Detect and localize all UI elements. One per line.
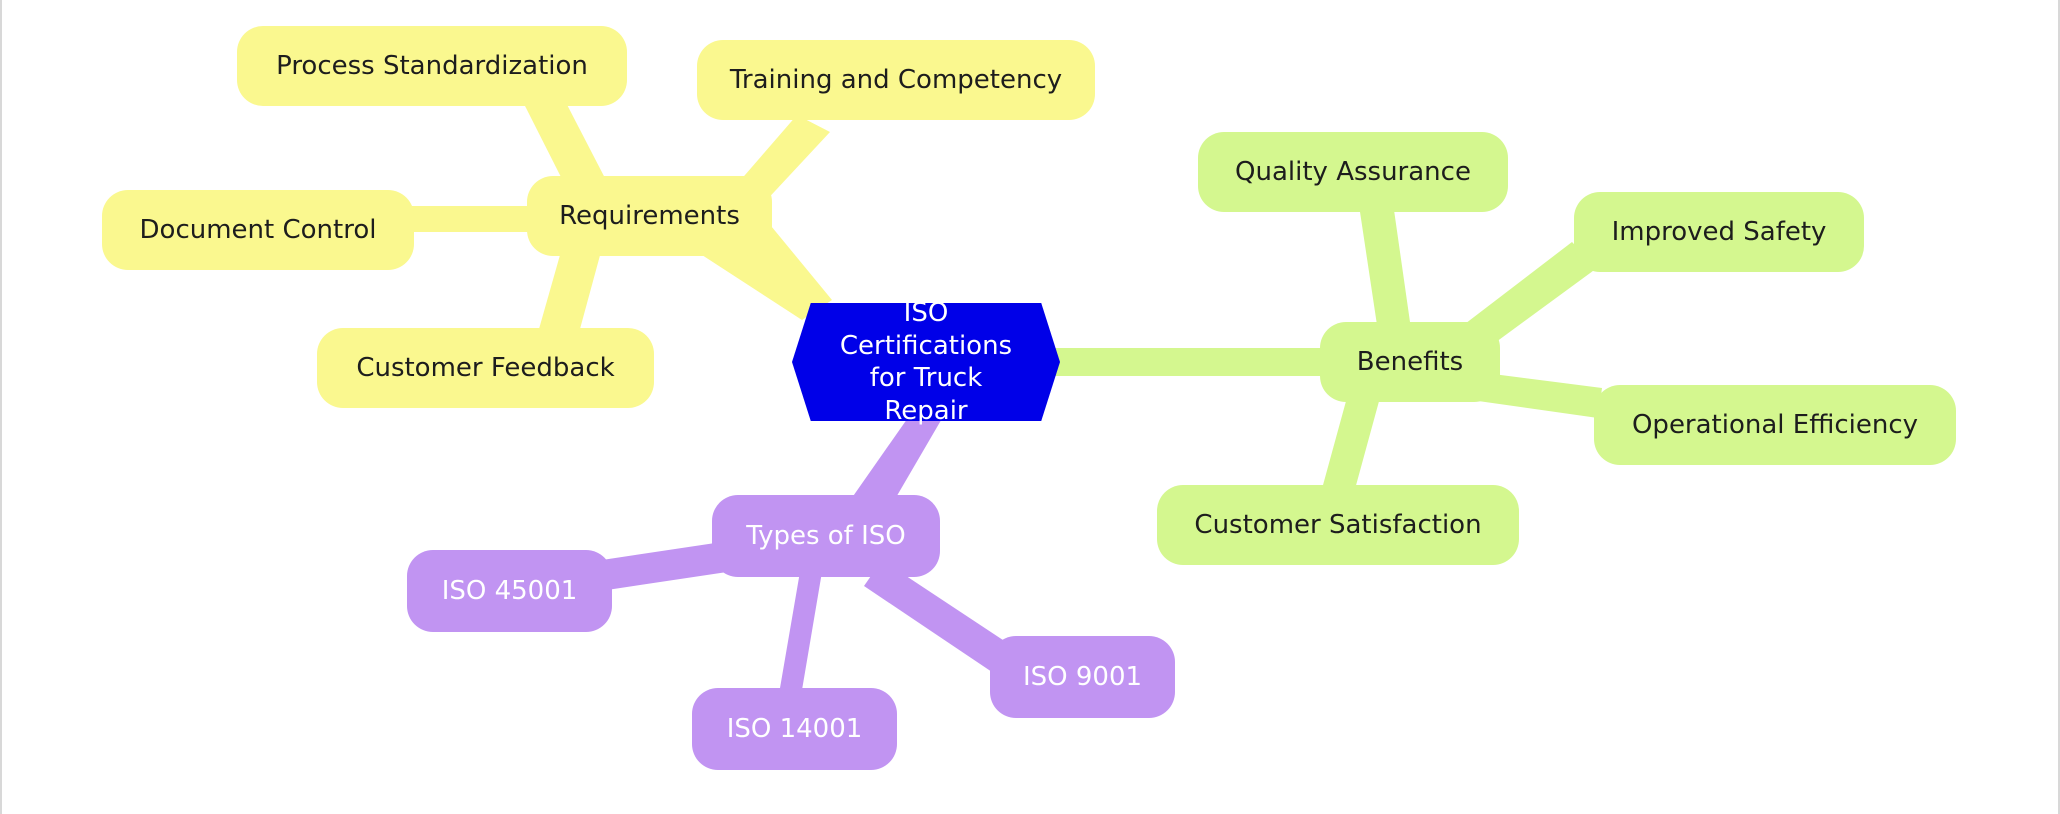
- mindmap-canvas: ISO Certifications for Truck Repair Requ…: [0, 0, 2060, 814]
- leaf-node-document-control[interactable]: Document Control: [102, 190, 414, 270]
- leaf-label-document-control: Document Control: [140, 214, 377, 247]
- branch-label-requirements: Requirements: [559, 200, 740, 233]
- leaf-label-customer-satisfaction: Customer Satisfaction: [1194, 509, 1481, 542]
- edge-root-benefits: [1042, 348, 1337, 376]
- leaf-node-iso-9001[interactable]: ISO 9001: [990, 636, 1175, 718]
- edge-types-iso-14001: [780, 560, 824, 690]
- leaf-label-iso-9001: ISO 9001: [1023, 661, 1142, 694]
- leaf-node-iso-14001[interactable]: ISO 14001: [692, 688, 897, 770]
- leaf-node-process-standardization[interactable]: Process Standardization: [237, 26, 627, 106]
- leaf-label-process-standardization: Process Standardization: [276, 50, 588, 83]
- branch-label-benefits: Benefits: [1357, 346, 1463, 379]
- leaf-label-iso-14001: ISO 14001: [727, 713, 863, 746]
- branch-node-benefits[interactable]: Benefits: [1320, 322, 1500, 402]
- leaf-node-training-and-competency[interactable]: Training and Competency: [697, 40, 1095, 120]
- edge-requirements-process-standardization: [522, 95, 607, 185]
- branch-label-types-of-iso: Types of ISO: [746, 520, 906, 553]
- branch-node-requirements[interactable]: Requirements: [527, 176, 772, 256]
- leaf-label-training-and-competency: Training and Competency: [730, 64, 1062, 97]
- leaf-node-iso-45001[interactable]: ISO 45001: [407, 550, 612, 632]
- leaf-label-iso-45001: ISO 45001: [442, 575, 578, 608]
- leaf-label-operational-efficiency: Operational Efficiency: [1632, 409, 1918, 442]
- edge-requirements-document-control: [397, 206, 547, 232]
- leaf-node-operational-efficiency[interactable]: Operational Efficiency: [1594, 385, 1956, 465]
- root-node-label: ISO Certifications for Truck Repair: [780, 297, 1072, 427]
- leaf-label-improved-safety: Improved Safety: [1612, 216, 1827, 249]
- branch-node-types-of-iso[interactable]: Types of ISO: [712, 495, 940, 577]
- leaf-node-quality-assurance[interactable]: Quality Assurance: [1198, 132, 1508, 212]
- leaf-node-improved-safety[interactable]: Improved Safety: [1574, 192, 1864, 272]
- edge-requirements-customer-feedback: [537, 248, 602, 340]
- leaf-node-customer-satisfaction[interactable]: Customer Satisfaction: [1157, 485, 1519, 565]
- leaf-label-customer-feedback: Customer Feedback: [356, 352, 614, 385]
- leaf-node-customer-feedback[interactable]: Customer Feedback: [317, 328, 654, 408]
- leaf-label-quality-assurance: Quality Assurance: [1235, 156, 1471, 189]
- root-node-iso-certifications[interactable]: ISO Certifications for Truck Repair: [792, 303, 1060, 421]
